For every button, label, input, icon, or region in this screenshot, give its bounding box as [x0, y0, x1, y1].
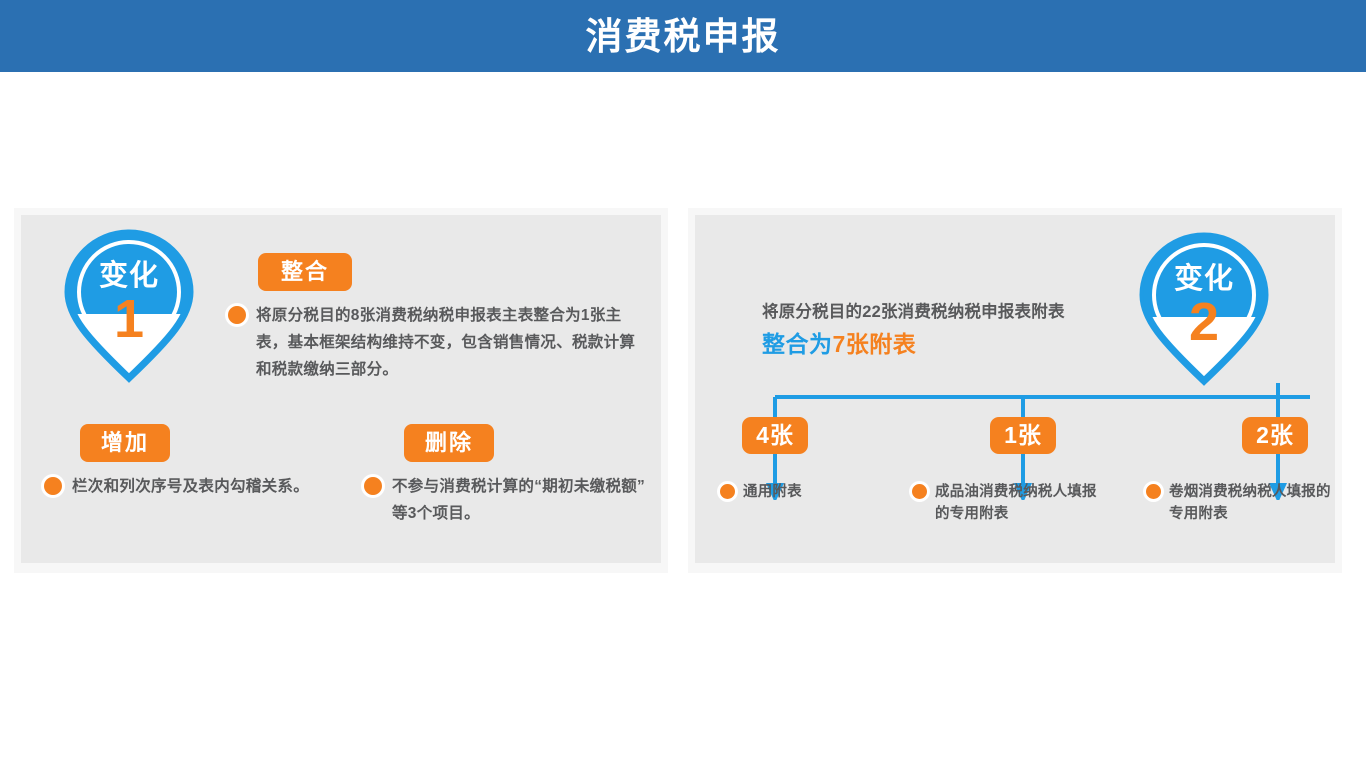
branch-count-badge-1: 1张	[990, 417, 1056, 454]
bullet-dot-icon	[228, 306, 246, 324]
add-text: 栏次和列次序号及表内勾稽关系。	[72, 473, 309, 500]
delete-text: 不参与消费税计算的“期初未缴税额”等3个项目。	[392, 473, 654, 527]
delete-tag: 删除	[404, 424, 494, 462]
change-2-heading: 将原分税目的22张消费税纳税申报表附表 整合为7张附表	[762, 300, 1162, 358]
branch-count-badge-2: 2张	[1242, 417, 1308, 454]
change-2-heading-highlight: 7张附表	[833, 331, 917, 357]
branch-caption-item-2: 卷烟消费税纳税人填报的专用附表	[1146, 481, 1331, 525]
change-2-heading-line1: 将原分税目的22张消费税纳税申报表附表	[762, 300, 1162, 324]
branch-caption-0: 通用附表	[743, 481, 802, 503]
bullet-dot-icon	[1146, 484, 1161, 499]
bullet-dot-icon	[912, 484, 927, 499]
add-bullet-item: 栏次和列次序号及表内勾稽关系。	[44, 473, 362, 500]
change-1-pin: 变化 1	[63, 228, 195, 383]
merge-tag: 整合	[258, 253, 352, 291]
delete-bullet-item: 不参与消费税计算的“期初未缴税额”等3个项目。	[364, 473, 654, 527]
bullet-dot-icon	[720, 484, 735, 499]
change-2-heading-prefix: 整合为	[762, 331, 833, 357]
merge-bullet-item: 将原分税目的8张消费税纳税申报表主表整合为1张主表，基本框架结构维持不变，包含销…	[228, 302, 648, 383]
branch-caption-item-1: 成品油消费税纳税人填报的专用附表	[912, 481, 1097, 525]
page-title: 消费税申报	[586, 18, 781, 55]
change-2-heading-line2: 整合为7张附表	[762, 330, 1162, 358]
add-tag: 增加	[80, 424, 170, 462]
page-header: 消费税申报	[0, 0, 1366, 72]
branch-caption-item-0: 通用附表	[720, 481, 900, 503]
bullet-dot-icon	[44, 477, 62, 495]
merge-text: 将原分税目的8张消费税纳税申报表主表整合为1张主表，基本框架结构维持不变，包含销…	[256, 302, 648, 383]
branch-caption-1: 成品油消费税纳税人填报的专用附表	[935, 481, 1097, 525]
bullet-dot-icon	[364, 477, 382, 495]
branch-count-badge-0: 4张	[742, 417, 808, 454]
branch-caption-2: 卷烟消费税纳税人填报的专用附表	[1169, 481, 1331, 525]
